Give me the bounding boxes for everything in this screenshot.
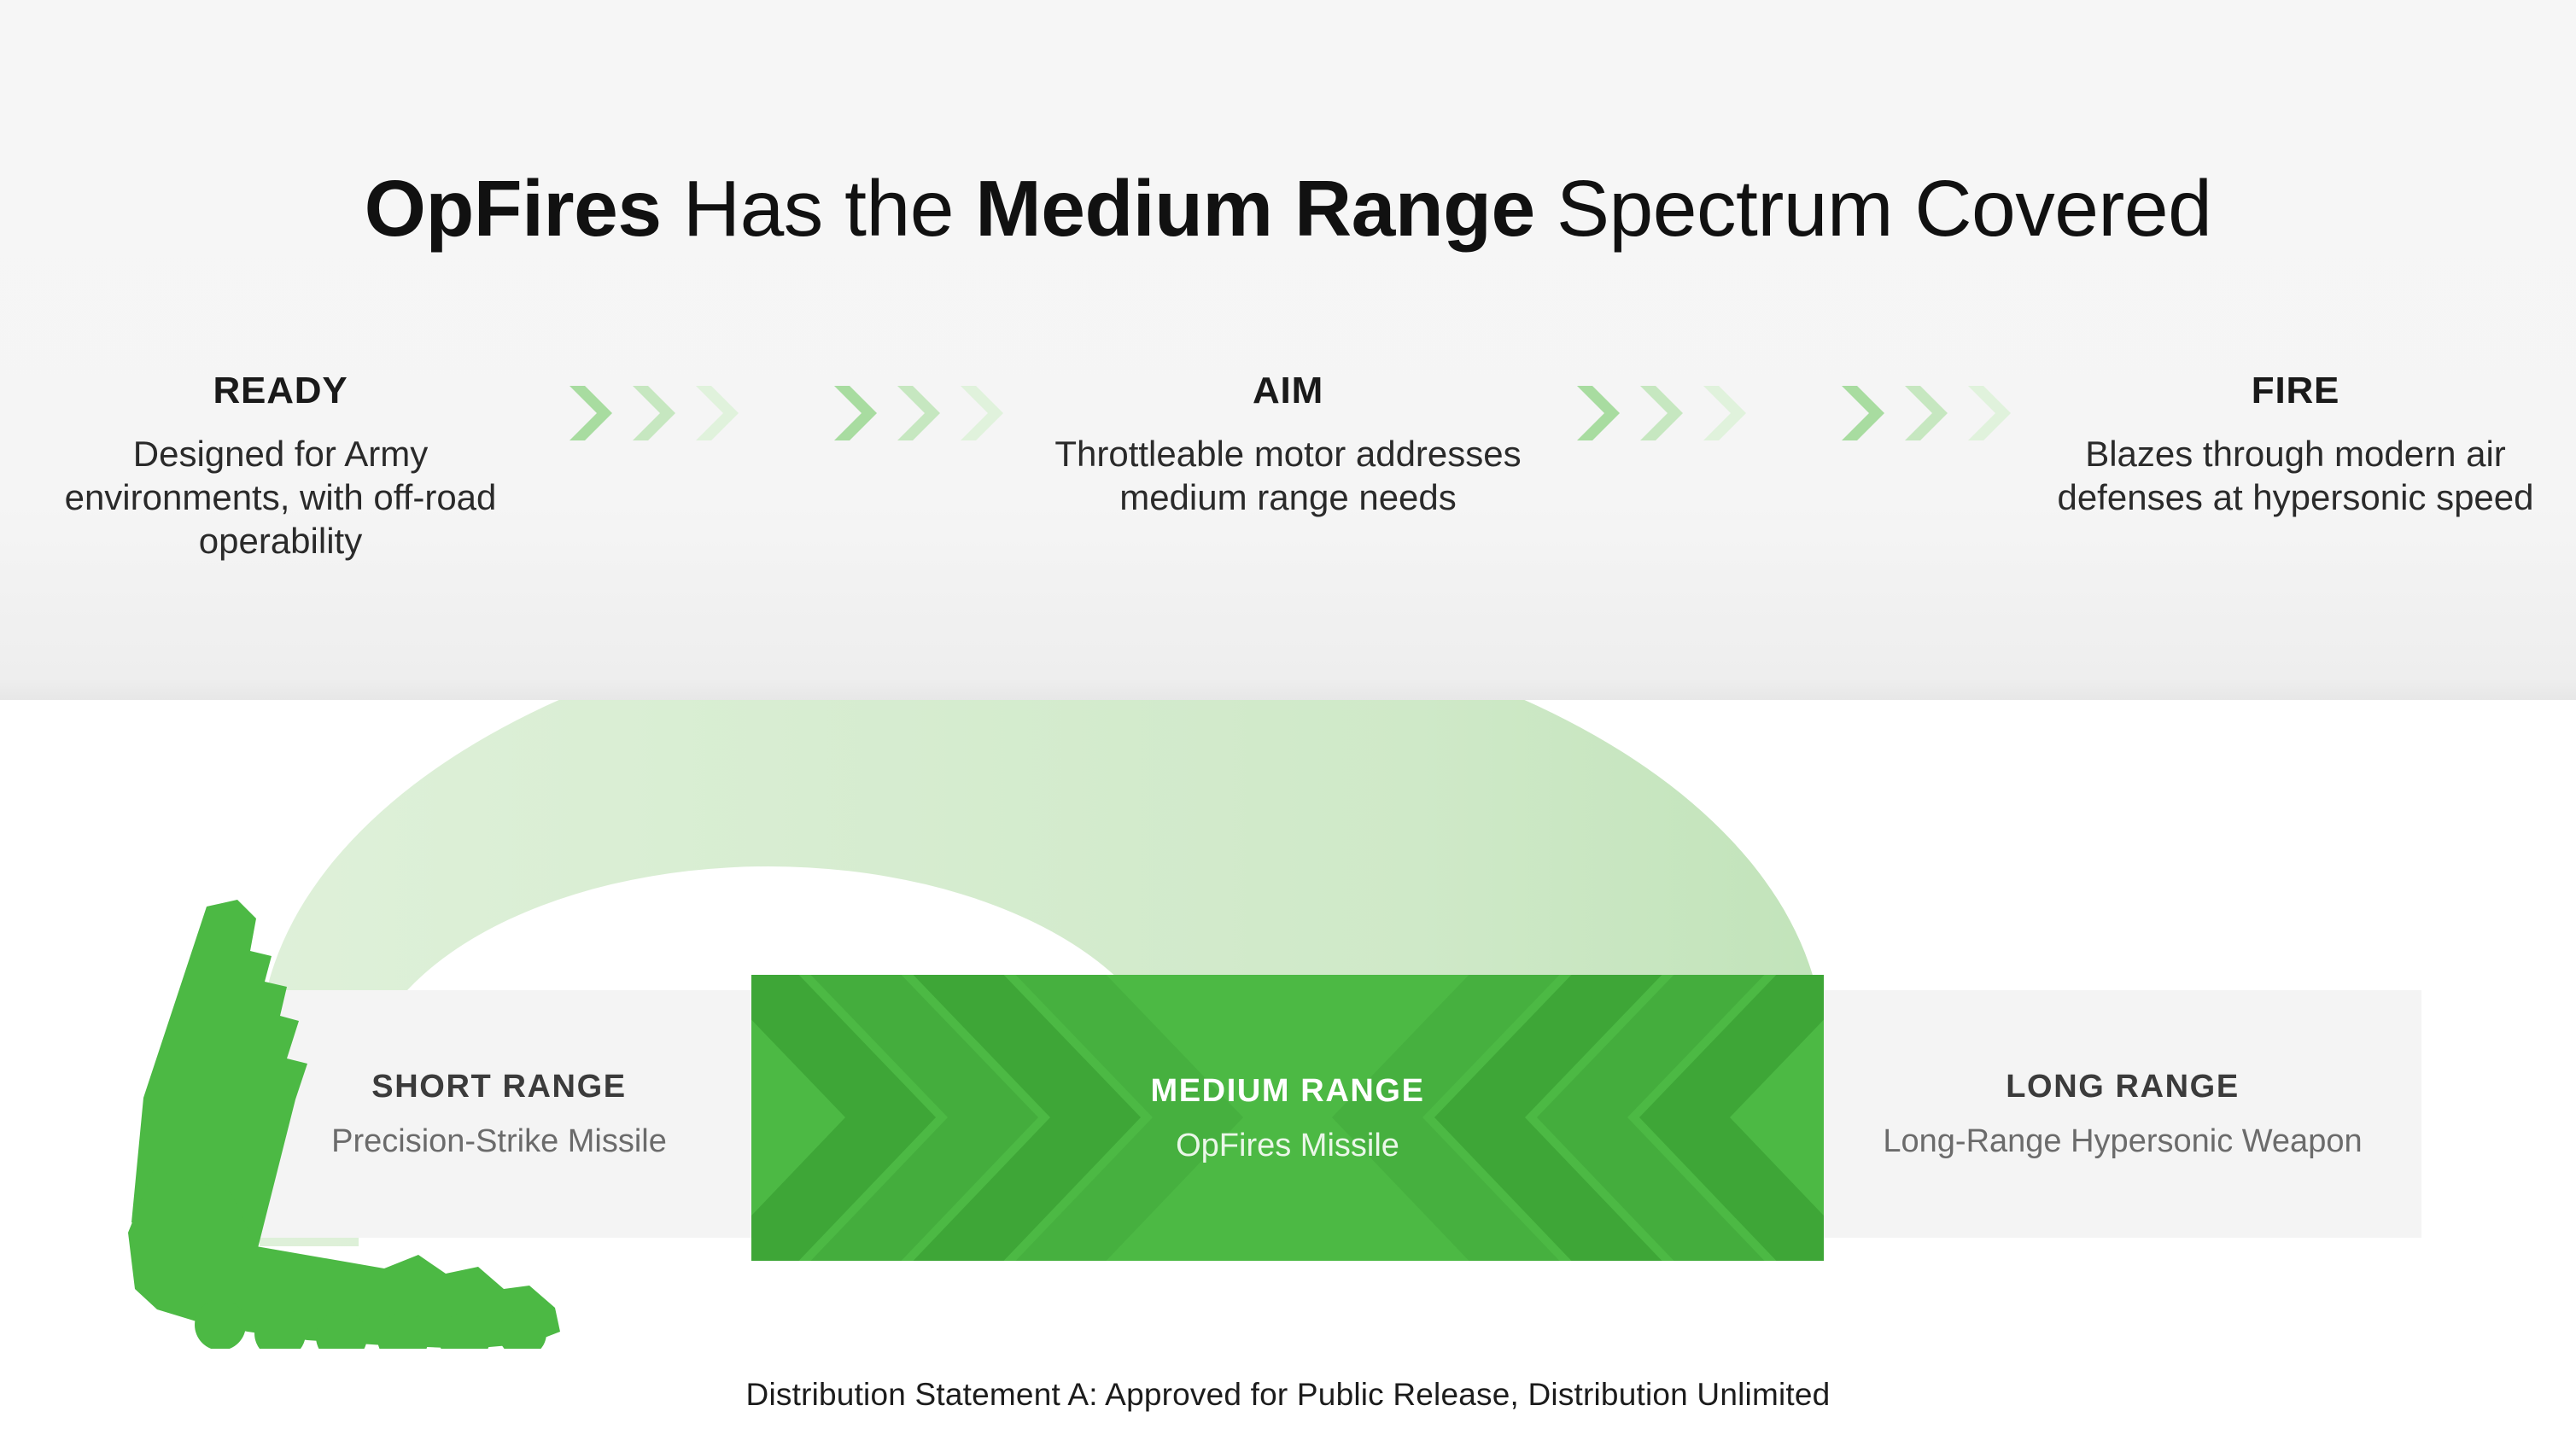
title-tail: Spectrum Covered (1535, 164, 2212, 253)
medium-range-text: MEDIUM RANGE OpFires Missile (751, 975, 1824, 1261)
chevron-right-icon (1835, 384, 1888, 442)
step-fire: FIRE Blazes through modern air defenses … (2057, 372, 2535, 519)
chevron-right-icon (1898, 384, 1951, 442)
chevron-right-icon (1961, 384, 2014, 442)
separator-chevrons-4 (1792, 372, 2057, 442)
range-segment-medium: MEDIUM RANGE OpFires Missile (751, 975, 1824, 1261)
range-spectrum-section: SHORT RANGE Precision-Strike Missile LON… (0, 700, 2576, 1452)
range-system-name: Long-Range Hypersonic Weapon (1883, 1125, 2362, 1158)
chevron-right-icon (689, 384, 742, 442)
missile-launcher-vehicle-icon (128, 888, 572, 1349)
separator-chevrons-1 (520, 372, 785, 442)
step-aim: AIM Throttleable motor addresses medium … (1049, 372, 1527, 519)
chevron-right-icon (1633, 384, 1686, 442)
step-title: FIRE (2057, 372, 2535, 410)
chevron-right-icon (1570, 384, 1623, 442)
title-emphasis: Medium Range (975, 164, 1534, 253)
chevron-right-icon (1697, 384, 1749, 442)
range-label: MEDIUM RANGE (1150, 1075, 1424, 1107)
range-segment-long: LONG RANGE Long-Range Hypersonic Weapon (1824, 990, 2421, 1238)
separator-chevrons-3 (1527, 372, 1792, 442)
separator-chevrons-2 (785, 372, 1049, 442)
step-description: Blazes through modern air defenses at hy… (2057, 432, 2535, 519)
chevron-right-icon (563, 384, 616, 442)
range-system-name: OpFires Missile (1176, 1129, 1399, 1162)
infographic-canvas: OpFires Has the Medium Range Spectrum Co… (0, 0, 2576, 1452)
header-panel: OpFires Has the Medium Range Spectrum Co… (0, 0, 2576, 700)
range-label: LONG RANGE (2006, 1070, 2240, 1103)
step-ready: READY Designed for Army environments, wi… (42, 372, 520, 563)
distribution-statement: Distribution Statement A: Approved for P… (0, 1377, 2576, 1413)
chevron-right-icon (827, 384, 880, 442)
chevron-right-icon (891, 384, 943, 442)
step-title: READY (42, 372, 520, 410)
step-title: AIM (1049, 372, 1527, 410)
chevron-right-icon (626, 384, 679, 442)
step-description: Designed for Army environments, with off… (42, 432, 520, 563)
chevron-right-icon (954, 384, 1007, 442)
step-description: Throttleable motor addresses medium rang… (1049, 432, 1527, 519)
page-title: OpFires Has the Medium Range Spectrum Co… (0, 167, 2576, 251)
title-connector: Has the (662, 164, 976, 253)
steps-row: READY Designed for Army environments, wi… (0, 372, 2576, 611)
title-brand: OpFires (365, 164, 662, 253)
